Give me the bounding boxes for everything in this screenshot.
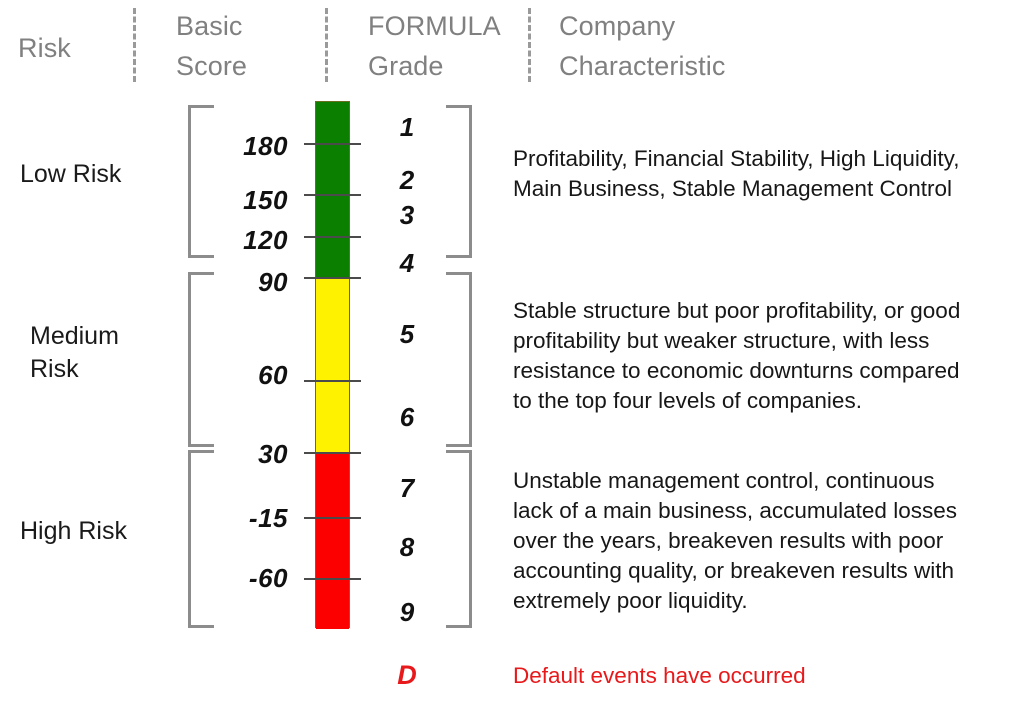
bracket-left-medium-risk: [188, 272, 214, 447]
risk-tier-label-medium: Medium Risk: [30, 320, 119, 386]
formula-grade-7: 7: [385, 473, 429, 504]
header-divider-3: [528, 8, 531, 82]
risk-tier-label-low: Low Risk: [20, 158, 121, 191]
header-company-characteristic: Company Characteristic: [559, 6, 725, 86]
tick-mark--60: [304, 578, 361, 580]
formula-grade-1: 1: [385, 112, 429, 143]
header-divider-2: [325, 8, 328, 82]
formula-grade-9: 9: [385, 597, 429, 628]
bracket-right-medium-risk: [446, 272, 472, 447]
formula-grade-3: 3: [385, 200, 429, 231]
bracket-right-high-risk: [446, 450, 472, 628]
formula-grade-6: 6: [385, 402, 429, 433]
risk-tier-label-high: High Risk: [20, 515, 127, 548]
tick-mark--15: [304, 517, 361, 519]
bracket-right-low-risk: [446, 105, 472, 258]
bar-segment-low-risk: [316, 102, 349, 278]
bracket-left-high-risk: [188, 450, 214, 628]
description-default-events: Default events have occurred: [513, 661, 1013, 691]
bar-segment-medium-risk: [316, 278, 349, 453]
tick-mark-180: [304, 143, 361, 145]
tick-mark-90: [304, 277, 361, 279]
header-divider-1: [133, 8, 136, 82]
header-basic-score: Basic Score: [176, 6, 247, 86]
tick-mark-150: [304, 194, 361, 196]
description-low-risk: Profitability, Financial Stability, High…: [513, 144, 1013, 204]
risk-grade-chart: Risk Basic Score FORMULA Grade Company C…: [0, 0, 1024, 701]
header-risk: Risk: [18, 28, 71, 68]
description-high-risk: Unstable management control, continuous …: [513, 466, 1013, 616]
formula-grade-2: 2: [385, 165, 429, 196]
grade-default-d: D: [385, 660, 429, 691]
bar-segment-high-risk: [316, 453, 349, 629]
description-medium-risk: Stable structure but poor profitability,…: [513, 296, 1013, 416]
tick-mark-30: [304, 452, 361, 454]
tick-mark-60: [304, 380, 361, 382]
header-formula-grade: FORMULA Grade: [368, 6, 501, 86]
formula-grade-8: 8: [385, 532, 429, 563]
formula-grade-5: 5: [385, 319, 429, 350]
tick-mark-120: [304, 236, 361, 238]
formula-grade-4: 4: [385, 248, 429, 279]
bracket-left-low-risk: [188, 105, 214, 258]
risk-color-bar: [315, 101, 350, 628]
